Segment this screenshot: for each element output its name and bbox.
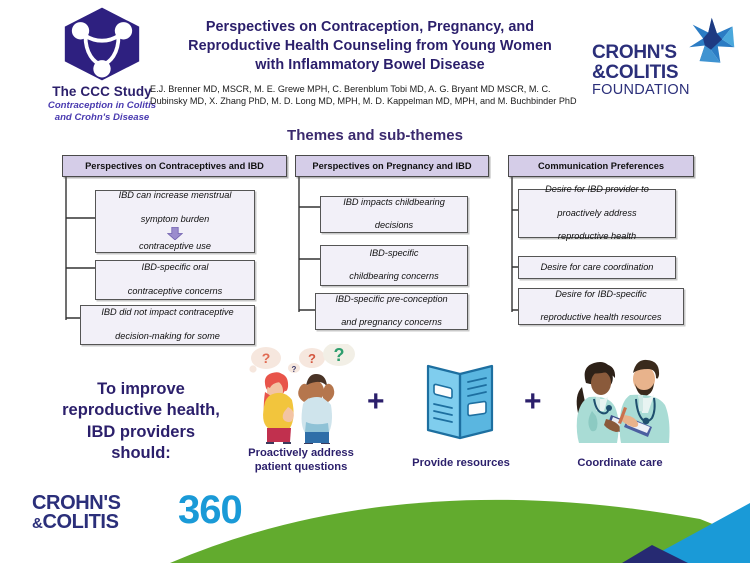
subtheme-3-1-line3: reproductive health	[523, 231, 671, 243]
brochure-resources-icon	[410, 356, 510, 444]
caption-2-line1: Provide resources	[390, 457, 532, 471]
caption-1-line1: Proactively address	[226, 447, 376, 461]
svg-text:?: ?	[308, 351, 316, 366]
ccc-subtitle-line2: and Crohn's Disease	[42, 112, 162, 124]
title-block: Perspectives on Contraception, Pregnancy…	[150, 18, 590, 107]
logo360-number: 360	[178, 490, 242, 530]
page-title: Perspectives on Contraception, Pregnancy…	[150, 18, 590, 75]
subtheme-2-1-line1: IBD impacts childbearing	[325, 197, 463, 209]
title-line-1: Perspectives on Contraception, Pregnancy…	[150, 18, 590, 37]
svg-text:?: ?	[334, 345, 345, 365]
ccc-shield-hexagon-icon	[60, 6, 144, 82]
subtheme-1-3-line1: IBD did not impact contraceptive	[85, 307, 250, 319]
subtheme-2-3-line2: and pregnancy concerns	[320, 317, 463, 329]
subtheme-1-2[interactable]: IBD-specific oral contraceptive concerns	[95, 260, 255, 300]
subtheme-3-2[interactable]: Desire for care coordination	[518, 256, 676, 279]
subtheme-1-1[interactable]: IBD can increase menstrual symptom burde…	[95, 190, 255, 253]
subtheme-2-2[interactable]: IBD-specific childbearing concerns	[320, 245, 468, 286]
subtheme-2-3[interactable]: IBD-specific pre-conception and pregnanc…	[315, 293, 468, 330]
subtheme-1-2-line1: IBD-specific oral	[100, 262, 250, 274]
infographic-canvas: The CCC Study Contraception in Colitis a…	[0, 0, 750, 563]
caption-provide-resources: Provide resources	[390, 457, 532, 471]
ccc-study-logo: The CCC Study Contraception in Colitis a…	[42, 6, 162, 123]
subtheme-2-2-line2: childbearing concerns	[325, 271, 463, 283]
subtheme-3-2-line1: Desire for care coordination	[523, 262, 671, 274]
theme-column-2-header[interactable]: Perspectives on Pregnancy and IBD	[295, 155, 489, 177]
subtheme-1-2-line2: contraceptive concerns	[100, 286, 250, 298]
subtheme-3-3[interactable]: Desire for IBD-specific reproductive hea…	[518, 288, 684, 325]
subtheme-2-1-line2: decisions	[325, 220, 463, 232]
plus-sign-1: +	[367, 385, 385, 419]
ccf-wordmark: CROHN'S &COLITIS FOUNDATION	[592, 44, 712, 99]
ccc-study-subtitle: Contraception in Colitis and Crohn's Dis…	[42, 100, 162, 123]
subtheme-2-1[interactable]: IBD impacts childbearing decisions	[320, 196, 468, 233]
title-line-2: Reproductive Health Counseling from Youn…	[150, 37, 590, 56]
caption-proactively-address: Proactively address patient questions	[226, 447, 376, 474]
subtheme-1-1-line1: IBD can increase menstrual	[100, 190, 250, 202]
ccc-study-title: The CCC Study	[42, 84, 162, 99]
subtheme-1-1-line3: contraceptive use	[100, 241, 250, 253]
logo360-colitis: COLITIS	[42, 511, 118, 533]
subtheme-3-1-line2: proactively address	[523, 208, 671, 220]
ccf-line-2: &COLITIS	[592, 63, 712, 82]
two-clinicians-talking-icon	[556, 353, 682, 445]
subtheme-2-2-line1: IBD-specific	[325, 248, 463, 260]
themes-section-title: Themes and sub-themes	[0, 127, 750, 144]
ccf-line-3: FOUNDATION	[592, 83, 712, 99]
subtheme-2-3-line1: IBD-specific pre-conception	[320, 294, 463, 306]
theme-column-1-header[interactable]: Perspectives on Contraceptives and IBD	[62, 155, 287, 177]
cta-line-4: should:	[46, 443, 236, 464]
subtheme-1-3-line2: decision-making for some	[85, 331, 250, 343]
ccc-subtitle-line1: Contraception in Colitis	[42, 100, 162, 112]
subtheme-1-1-line2: symptom burden	[100, 214, 250, 226]
logo360-ampersand: &	[32, 515, 42, 532]
subtheme-3-3-line2: reproductive health resources	[523, 312, 679, 324]
caption-3-line1: Coordinate care	[545, 457, 695, 471]
title-line-3: with Inflammatory Bowel Disease	[150, 56, 590, 75]
caption-coordinate-care: Coordinate care	[545, 457, 695, 471]
svg-text:?: ?	[262, 350, 271, 366]
cta-line-1: To improve	[46, 379, 236, 400]
cta-line-2: reproductive health,	[46, 400, 236, 421]
down-arrow-icon	[167, 227, 183, 240]
ccf-line-1: CROHN'S	[592, 44, 712, 63]
plus-sign-2: +	[524, 385, 542, 419]
caption-1-line2: patient questions	[226, 461, 376, 475]
subtheme-3-1-line1: Desire for IBD provider to	[523, 184, 671, 196]
subtheme-3-1[interactable]: Desire for IBD provider to proactively a…	[518, 189, 676, 238]
confused-patients-with-question-bubbles-icon: ? ? ? ?	[236, 344, 364, 444]
subtheme-1-3[interactable]: IBD did not impact contraceptive decisio…	[80, 305, 255, 345]
recommendation-lead-text: To improve reproductive health, IBD prov…	[46, 379, 236, 465]
logo360-line-2: &COLITIS	[32, 513, 119, 532]
cta-line-3: IBD providers	[46, 422, 236, 443]
theme-column-3-header[interactable]: Communication Preferences	[508, 155, 694, 177]
author-list: E.J. Brenner MD, MSCR, M. E. Grewe MPH, …	[150, 83, 590, 107]
subtheme-3-3-line1: Desire for IBD-specific	[523, 289, 679, 301]
svg-text:?: ?	[292, 365, 297, 374]
